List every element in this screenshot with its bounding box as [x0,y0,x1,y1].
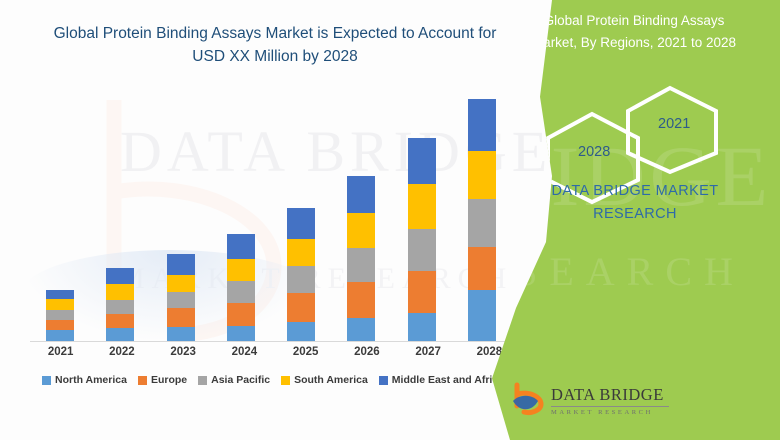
bar-segment [287,208,315,239]
bar-segment [468,199,496,247]
bar-segment [46,299,74,310]
panel-watermark-secondary: RESEARCH [480,248,745,295]
legend-swatch-icon [379,376,388,385]
chart-bars [30,86,512,341]
panel-title-line2: Market, By Regions, 2021 to 2028 [532,35,736,50]
bar-segment [347,318,375,341]
bar-segment [46,290,74,300]
bar-stack [167,254,195,341]
bar-segment [227,303,255,326]
page-title-line2: USD XX Million by 2028 [192,48,357,65]
legend-item[interactable]: Asia Pacific [198,374,270,386]
bar-column [90,86,150,341]
bar-segment [408,229,436,271]
bar-segment [227,281,255,302]
bar-segment [468,99,496,151]
hexagon-right-label: 2021 [658,116,690,132]
dbmr-logo-text: DATA BRIDGE MARKET RESEARCH [551,387,669,416]
bar-segment [106,268,134,284]
panel-brand-line1: DATA BRIDGE MARKET [552,183,719,199]
bar-column [331,86,391,341]
bar-segment [106,314,134,328]
legend-swatch-icon [138,376,147,385]
legend-swatch-icon [281,376,290,385]
bar-stack [468,99,496,341]
legend-label: Europe [151,374,187,386]
chart-x-axis: 20212022202320242025202620272028 [30,346,520,358]
panel-brand-line2: RESEARCH [593,206,677,222]
bar-stack [347,176,375,341]
chart-plot-area [30,86,512,342]
bar-segment [468,151,496,199]
bar-stack [227,234,255,341]
bar-segment [46,330,74,341]
hexagon-group: 2021 2028 [522,84,742,168]
bar-segment [408,313,436,341]
dbmr-b-logo-icon [510,382,544,421]
x-axis-tick: 2026 [337,346,397,358]
legend-item[interactable]: Middle East and Africa [379,374,504,386]
legend-swatch-icon [42,376,51,385]
legend-label: North America [55,374,127,386]
bar-segment [347,176,375,213]
bar-segment [46,320,74,331]
bar-segment [287,266,315,293]
panel-title-line1: Global Protein Binding Assays [544,13,725,28]
bar-stack [408,138,436,341]
x-axis-tick: 2027 [398,346,458,358]
bar-stack [106,268,134,341]
panel-brand-text: DATA BRIDGE MARKET RESEARCH [510,180,760,226]
x-axis-tick: 2024 [214,346,274,358]
bar-segment [227,259,255,281]
bar-segment [167,308,195,327]
legend-label: Middle East and Africa [392,374,504,386]
bar-segment [167,254,195,275]
bar-column [30,86,90,341]
legend-label: South America [294,374,368,386]
legend-label: Asia Pacific [211,374,270,386]
dbmr-logo-rule [551,406,669,407]
bar-segment [227,234,255,259]
bar-segment [347,213,375,248]
x-axis-tick: 2023 [153,346,213,358]
bar-column [452,86,512,341]
right-green-panel: BRIDGE RESEARCH Global Protein Binding A… [480,0,780,440]
chart-baseline [30,341,512,342]
x-axis-tick: 2021 [31,346,91,358]
bar-segment [227,326,255,341]
bar-segment [347,248,375,282]
bar-segment [408,138,436,184]
bar-segment [106,284,134,300]
page-title: Global Protein Binding Assays Market is … [40,22,510,68]
legend-item[interactable]: North America [42,374,127,386]
bar-segment [468,290,496,341]
bar-stack [46,290,74,341]
hexagon-left-label: 2028 [578,144,610,160]
chart-legend: North AmericaEuropeAsia PacificSouth Ame… [18,374,528,386]
slide-root: DATA BRIDGE MARKET RESEARCH Global Prote… [0,0,780,440]
x-axis-tick: 2025 [276,346,336,358]
bar-segment [106,328,134,341]
bar-segment [408,184,436,229]
bar-segment [167,275,195,292]
bar-column [211,86,271,341]
dbmr-logo: DATA BRIDGE MARKET RESEARCH [510,382,669,421]
bar-column [151,86,211,341]
bar-segment [408,271,436,314]
bar-segment [287,322,315,341]
legend-swatch-icon [198,376,207,385]
x-axis-tick: 2022 [92,346,152,358]
dbmr-logo-main: DATA BRIDGE [551,387,669,404]
bar-segment [167,327,195,341]
dbmr-logo-sub: MARKET RESEARCH [551,410,669,417]
bar-column [271,86,331,341]
page-title-line1: Global Protein Binding Assays Market is … [54,25,497,42]
bar-segment [287,239,315,267]
legend-item[interactable]: Europe [138,374,187,386]
bar-segment [106,300,134,314]
panel-title: Global Protein Binding Assays Market, By… [508,10,760,54]
stacked-bar-chart [18,86,518,342]
bar-segment [287,293,315,322]
legend-item[interactable]: South America [281,374,368,386]
bar-column [392,86,452,341]
bar-stack [287,208,315,341]
bar-segment [468,247,496,290]
bar-segment [46,310,74,320]
bar-segment [347,282,375,317]
bar-segment [167,292,195,308]
